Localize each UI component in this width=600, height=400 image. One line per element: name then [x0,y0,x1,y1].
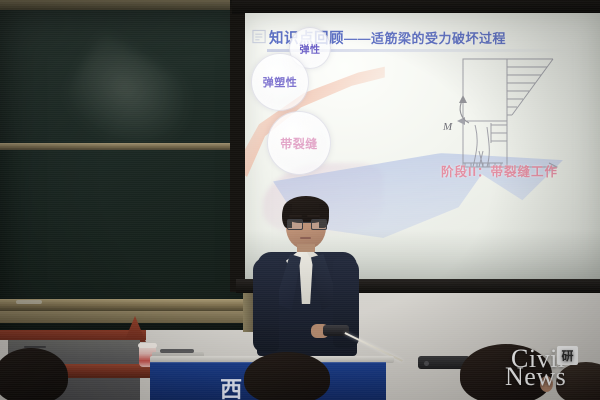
audience-ear [540,376,553,392]
slide-bullet-icon [252,29,267,45]
slide-bubble-cracked-label: 带裂缝 [280,135,318,152]
chalkboard-top-frame [0,0,268,10]
audience-head-center [244,352,330,400]
drinking-cup-rim [138,343,157,348]
glasses-bridge [301,222,311,223]
chalk-piece [16,300,42,304]
slide-bubble-elastoplastic: 弹塑性 [251,53,309,111]
podium-top [0,330,146,340]
presenter-brow-right [307,215,320,217]
chalkboard-mid-rail [0,143,262,150]
presenter-mouth [300,237,311,239]
slide-stage-caption: 阶段II：带裂缝工作 [441,161,558,180]
slide-title-sub: ——适筋梁的受力破坏过程 [344,31,506,46]
slide-bubble-elastoplastic-label: 弹塑性 [263,74,298,90]
presenter-arm-left [253,258,279,352]
audience-head-right [460,344,552,400]
glasses-lens-left [287,219,303,230]
presenter-brow-left [289,215,302,217]
slide-bubble-cracked: 带裂缝 [267,111,331,175]
audience-head-left [0,348,68,400]
chalkboard-glare [55,31,206,173]
slide-bubble-elastic-label: 弹性 [300,41,321,56]
presenter-glasses [287,219,325,228]
projection-screen-top-bar [232,0,600,14]
chalkboard [0,8,262,330]
glasses-lens-right [311,219,327,230]
beam-stress-diagram [457,55,577,177]
moment-label: M [443,121,452,133]
laser-pointer [323,325,349,336]
wall-speaker-led [424,361,429,366]
chalk-tray [0,311,250,323]
microphone [160,349,194,353]
presenter [253,196,361,356]
lecture-photo: 知识点回顾——适筋梁的受力破坏过程 弹性 弹塑性 带裂缝 [0,0,600,400]
